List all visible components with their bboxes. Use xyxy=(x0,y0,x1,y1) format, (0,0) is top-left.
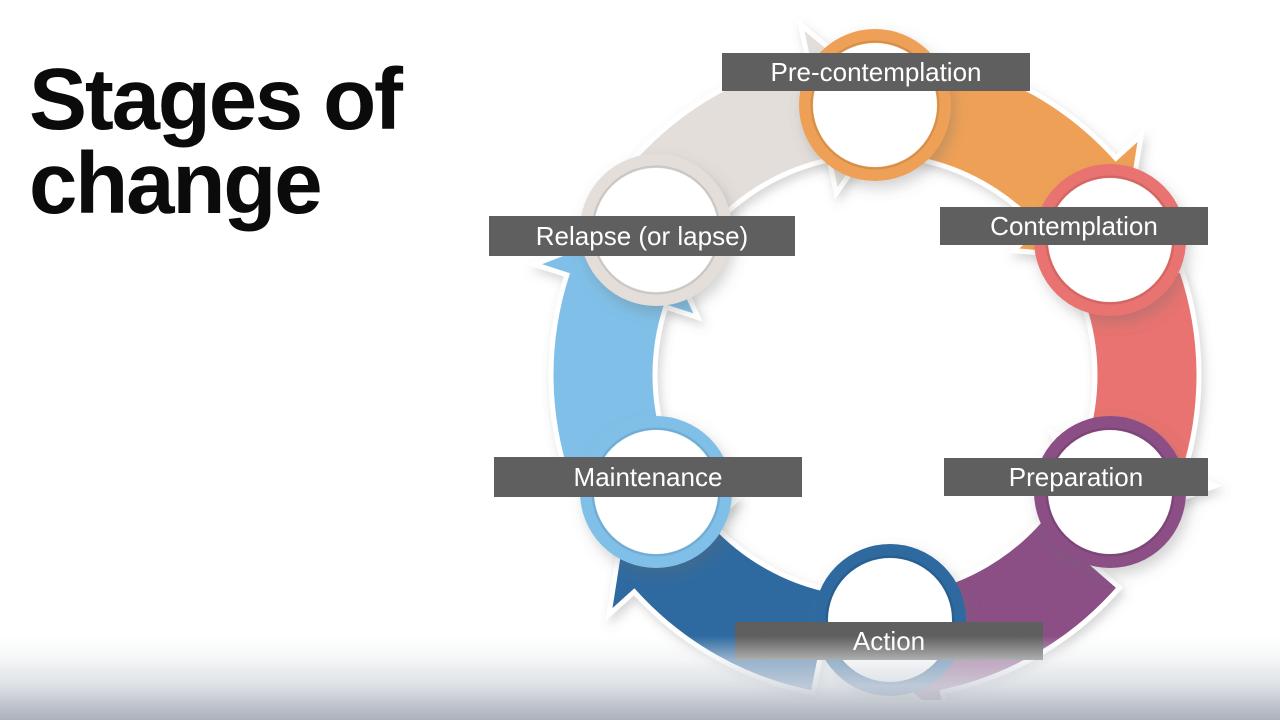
stage-label-text-action: Action xyxy=(853,628,925,654)
stage-label-maintenance[interactable]: Maintenance xyxy=(494,457,802,497)
stage-label-preparation[interactable]: Preparation xyxy=(944,458,1208,496)
stage-label-action[interactable]: Action xyxy=(735,622,1043,660)
stage-label-text-maintenance: Maintenance xyxy=(574,464,723,490)
stages-of-change-cycle-diagram: Pre-contemplationContemplationPreparatio… xyxy=(470,0,1280,700)
cycle-ring-action[interactable] xyxy=(821,551,959,689)
stage-label-relapse[interactable]: Relapse (or lapse) xyxy=(489,216,795,256)
cycle-svg xyxy=(470,0,1280,700)
stage-label-text-contemplation: Contemplation xyxy=(990,213,1158,239)
stage-label-pre-contemplation[interactable]: Pre-contemplation xyxy=(722,53,1030,91)
slide-canvas: Stages of change Pre-contemplationContem… xyxy=(0,0,1280,720)
stage-label-text-preparation: Preparation xyxy=(1009,464,1143,490)
stage-label-text-relapse: Relapse (or lapse) xyxy=(536,223,748,249)
stage-label-text-pre-contemplation: Pre-contemplation xyxy=(771,59,982,85)
stage-label-contemplation[interactable]: Contemplation xyxy=(940,207,1208,245)
